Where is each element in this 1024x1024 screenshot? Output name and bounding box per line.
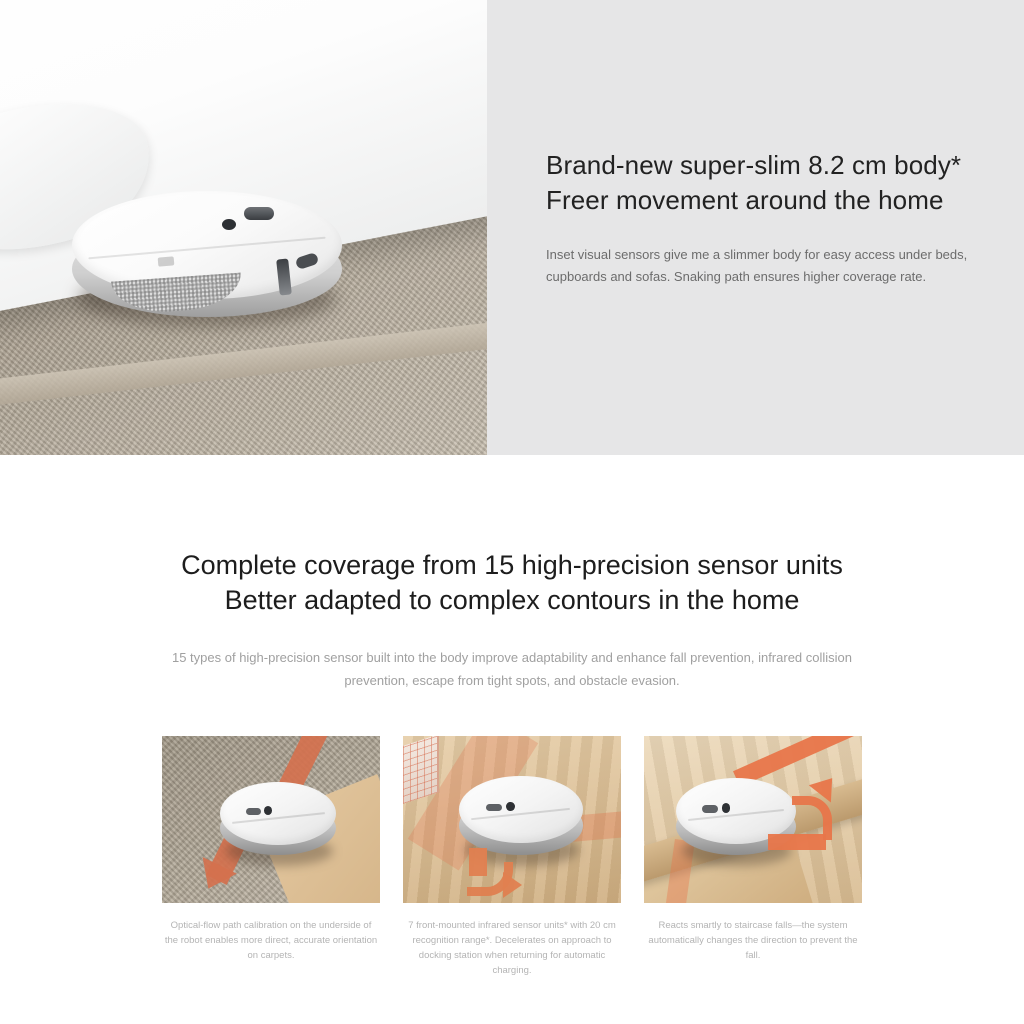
- hero-headline-line-1: Brand-new super-slim 8.2 cm body*: [546, 150, 961, 180]
- features-headline-line-2: Better adapted to complex contours in th…: [225, 585, 800, 615]
- features-subtext: 15 types of high-precision sensor built …: [145, 646, 879, 692]
- feature-card: Optical-flow path calibration on the und…: [162, 736, 380, 978]
- robot-visual-sensor-icon: [244, 207, 274, 220]
- hero-body-text: Inset visual sensors give me a slimmer b…: [546, 244, 986, 288]
- robot-visual-sensor-icon: [486, 804, 502, 812]
- features-headline: Complete coverage from 15 high-precision…: [0, 548, 1024, 618]
- product-page: Brand-new super-slim 8.2 cm body* Freer …: [0, 0, 1024, 1024]
- robot-vacuum: [72, 185, 342, 335]
- hero-section: Brand-new super-slim 8.2 cm body* Freer …: [0, 0, 1024, 455]
- feature-card: Reacts smartly to staircase falls—the sy…: [644, 736, 862, 978]
- hero-headline-line-2: Freer movement around the home: [546, 185, 944, 215]
- hero-photo-robot-under-bed: [0, 0, 487, 455]
- robot-brand-logo: [158, 256, 175, 266]
- robot-camera-icon: [722, 803, 730, 812]
- feature-image-fall-prevention: [644, 736, 862, 903]
- robot-visual-sensor-icon: [702, 805, 718, 812]
- feature-caption: Reacts smartly to staircase falls—the sy…: [644, 918, 862, 963]
- robot-vacuum-thumb: [220, 778, 336, 866]
- furniture-leg: [403, 736, 439, 804]
- features-section: Complete coverage from 15 high-precision…: [0, 455, 1024, 978]
- hero-headline: Brand-new super-slim 8.2 cm body* Freer …: [546, 148, 1024, 218]
- feature-card-list: Optical-flow path calibration on the und…: [162, 736, 862, 978]
- feature-card: 7 front-mounted infrared sensor units* w…: [403, 736, 621, 978]
- feature-caption: 7 front-mounted infrared sensor units* w…: [403, 918, 621, 978]
- robot-camera-icon: [222, 219, 236, 230]
- robot-visual-sensor-icon: [246, 808, 261, 815]
- feature-caption: Optical-flow path calibration on the und…: [162, 918, 380, 963]
- feature-image-optical-flow: [162, 736, 380, 903]
- robot-vacuum-thumb: [676, 774, 796, 866]
- hero-text-panel: Brand-new super-slim 8.2 cm body* Freer …: [487, 0, 1024, 455]
- turn-arrow-head-icon: [503, 872, 522, 898]
- feature-image-infrared-sensors: [403, 736, 621, 903]
- features-headline-line-1: Complete coverage from 15 high-precision…: [181, 550, 843, 580]
